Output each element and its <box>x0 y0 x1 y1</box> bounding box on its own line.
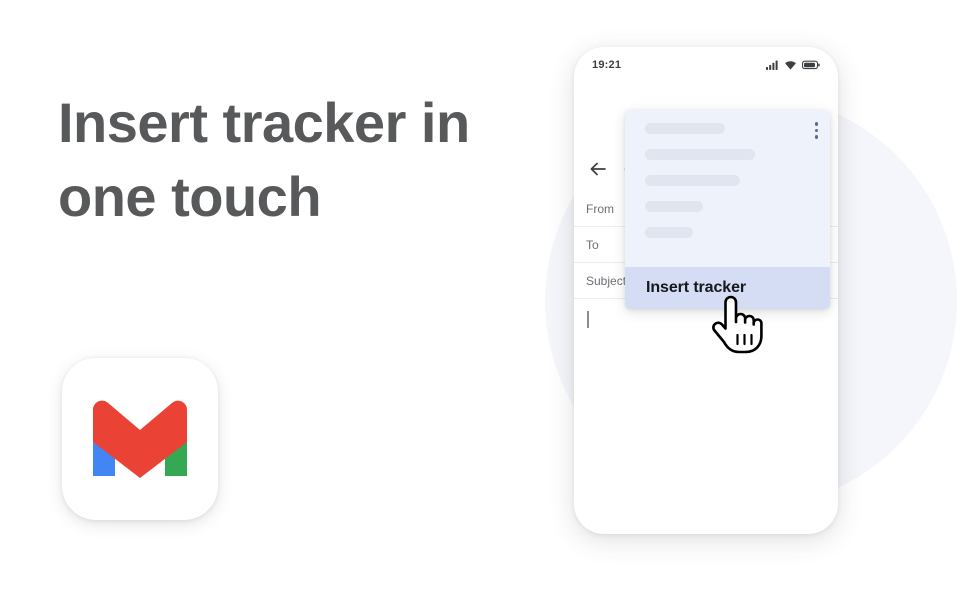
status-bar: 19:21 <box>574 47 838 83</box>
pointing-hand-cursor <box>708 294 764 354</box>
status-time: 19:21 <box>592 59 621 71</box>
menu-item-placeholder[interactable] <box>645 201 703 212</box>
menu-item-placeholder[interactable] <box>645 227 693 238</box>
phone-mockup: 19:21 <box>574 47 838 534</box>
field-from-label: From <box>586 202 614 216</box>
menu-item-placeholder[interactable] <box>645 123 725 134</box>
status-icon-group <box>766 60 820 70</box>
menu-item-placeholder[interactable] <box>645 175 740 186</box>
overflow-menu-items <box>625 110 830 267</box>
promo-graphic: Insert tracker in one touch 19:21 <box>0 0 960 600</box>
page-title: Insert tracker in one touch <box>58 86 528 234</box>
battery-icon <box>802 60 820 70</box>
gmail-app-icon <box>62 358 218 520</box>
more-vertical-icon[interactable] <box>815 122 819 139</box>
signal-icon <box>766 60 779 70</box>
wifi-icon <box>784 60 797 70</box>
menu-item-placeholder[interactable] <box>645 149 755 160</box>
headline-line-1: Insert tracker in <box>58 86 528 160</box>
field-to-label: To <box>586 238 599 252</box>
gmail-logo-icon <box>85 398 195 480</box>
field-subject-label: Subject <box>586 274 626 288</box>
headline-line-2: one touch <box>58 160 528 234</box>
overflow-menu: Insert tracker <box>625 110 830 309</box>
text-caret <box>587 311 589 328</box>
back-arrow-icon[interactable] <box>588 159 608 179</box>
